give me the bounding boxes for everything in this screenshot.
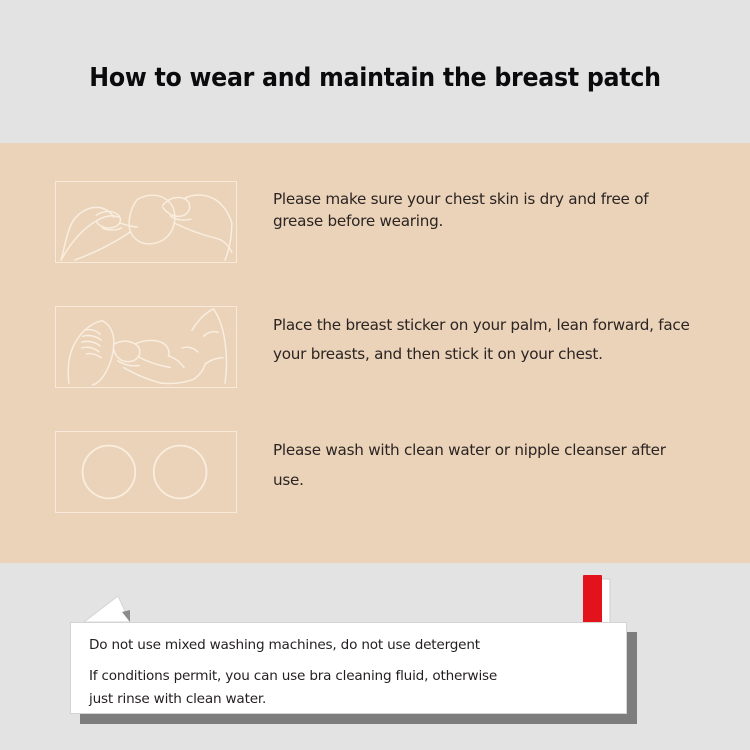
step-1-text: Please make sure your chest skin is dry … [273, 189, 698, 232]
step-2-text: Place the breast sticker on your palm, l… [273, 311, 698, 369]
hands-applying-patch-to-chest-illustration [56, 182, 236, 262]
warning-line-3: just rinse with clean water. [89, 691, 266, 707]
step-1-illustration-frame [55, 181, 237, 263]
patch-on-palm-lean-forward-illustration [56, 307, 236, 387]
step-3-illustration-frame [55, 431, 237, 513]
two-round-patches-illustration [56, 432, 236, 512]
step-3-text: Please wash with clean water or nipple c… [273, 435, 698, 496]
infographic-page: How to wear and maintain the breast patc… [0, 0, 750, 750]
instructions-band: Please make sure your chest skin is dry … [0, 143, 750, 563]
header-band: How to wear and maintain the breast patc… [0, 0, 750, 143]
warning-line-2: If conditions permit, you can use bra cl… [89, 668, 497, 684]
warning-callout: Do not use mixed washing machines, do no… [70, 622, 627, 714]
warning-line-1: Do not use mixed washing machines, do no… [89, 637, 480, 653]
step-2-illustration-frame [55, 306, 237, 388]
page-title: How to wear and maintain the breast patc… [26, 63, 724, 93]
